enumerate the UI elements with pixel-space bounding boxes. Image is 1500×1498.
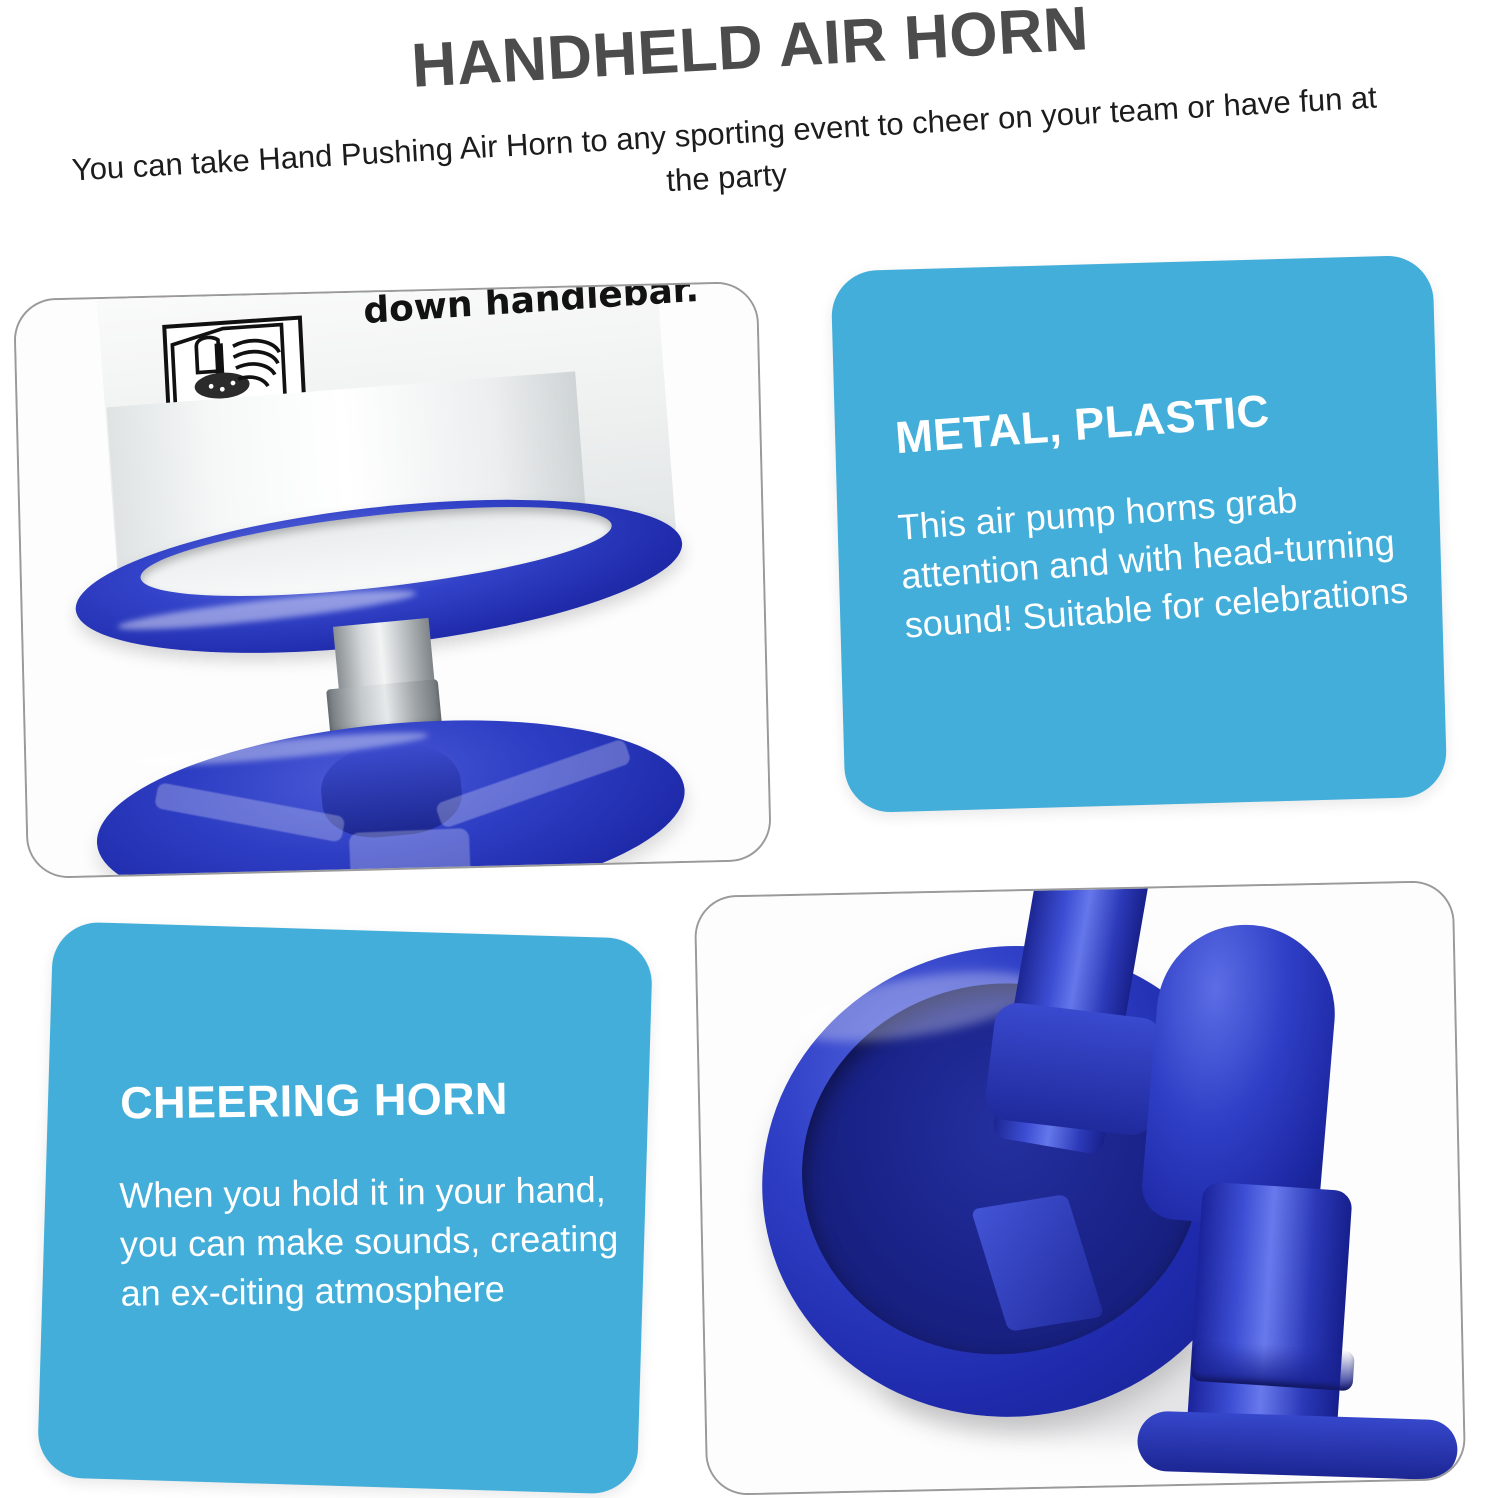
- base-spoke: [349, 828, 471, 879]
- base-spoke: [154, 782, 346, 843]
- horn-nozzle-barrel: [1186, 1181, 1352, 1440]
- feature-card-cheering-body: When you hold it in your hand, you can m…: [119, 1166, 621, 1319]
- feature-card-material-heading: METAL, PLASTIC: [894, 385, 1272, 464]
- feature-card-material-body: This air pump horns grab attention and w…: [896, 467, 1435, 650]
- pump-star-base: [88, 697, 693, 879]
- pump-label-text: down handlebar.: [362, 281, 699, 332]
- feature-card-cheering-heading: CHEERING HORN: [120, 1073, 508, 1130]
- horn-stem-collar: [983, 1000, 1166, 1137]
- header-block: HANDHELD AIR HORN You can take Hand Push…: [0, 0, 1500, 250]
- photo-pump-scene: down handlebar.: [15, 283, 770, 877]
- base-spoke: [435, 738, 632, 829]
- product-photo-horn-nozzle: [694, 880, 1466, 1496]
- feature-card-material: METAL, PLASTIC This air pump horns grab …: [831, 255, 1448, 814]
- horn-foot-plate: [1137, 1410, 1459, 1480]
- photo-nozzle-scene: [696, 882, 1464, 1494]
- feature-card-cheering: CHEERING HORN When you hold it in your h…: [37, 921, 653, 1495]
- product-photo-pump-base: down handlebar.: [13, 281, 772, 879]
